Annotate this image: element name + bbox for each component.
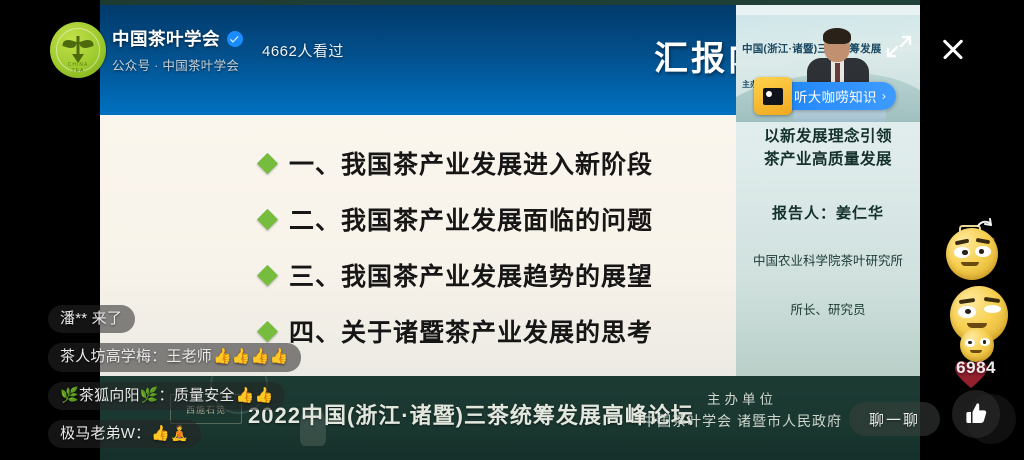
chat-message-text: 潘** 来了 <box>60 309 122 329</box>
livestream-viewer: 汇报内容 一、我国茶产业发展进入新阶段 二、我国茶产业发展面临的问题 三、我国茶… <box>0 0 1024 460</box>
cover-title-line1: 以新发展理念引领 <box>736 125 920 148</box>
channel-avatar-tea-logo-icon[interactable]: CHINA TEA <box>50 22 106 78</box>
channel-name: 中国茶叶学会 <box>112 26 220 51</box>
list-item: 🌿茶狐向阳🌿：质量安全 👍👍 <box>48 382 285 410</box>
organizer-names: 中国茶叶学会 诸暨市人民政府 <box>642 411 842 433</box>
diamond-bullet-icon <box>257 208 278 229</box>
thumbs-up-icon[interactable] <box>952 390 1000 438</box>
close-icon[interactable] <box>938 34 968 64</box>
chat-message-text: 🌿茶狐向阳🌿：质量安全 <box>60 386 235 406</box>
small-face-emoji <box>960 328 994 362</box>
cover-presenter: 报告人：姜仁华 <box>736 202 920 223</box>
chat-message-emojis: 👍👍 <box>236 386 274 406</box>
list-item: 茶人坊高学梅：王老师 👍👍👍👍 <box>48 343 301 371</box>
chat-message-emojis: 👍🧘 <box>151 424 189 444</box>
smiling-face-emoji <box>946 228 998 280</box>
diamond-bullet-icon <box>257 152 278 173</box>
channel-subtitle: 公众号 · 中国茶叶学会 <box>112 55 243 74</box>
list-item: 潘** 来了 <box>48 305 135 333</box>
cover-title-line2: 茶产业高质量发展 <box>736 148 920 171</box>
thumbs-up-glyph <box>963 401 989 427</box>
chat-message-emojis: 👍👍👍👍 <box>213 347 289 367</box>
cover-affiliation-line2: 所长、研究员 <box>736 300 920 321</box>
avatar-base-text: CHINA TEA <box>62 62 94 68</box>
channel-info-block[interactable]: 中国茶叶学会 公众号 · 中国茶叶学会 <box>112 26 243 74</box>
chat-message-text: 极马老弟W： <box>60 424 150 444</box>
view-count-label: 4662人看过 <box>262 40 344 61</box>
diamond-bullet-icon <box>257 264 278 285</box>
list-item: 极马老弟W： 👍🧘 <box>48 420 201 448</box>
list-item-label: 一、我国茶产业发展进入新阶段 <box>289 145 653 181</box>
like-count-label: 6984 <box>956 358 996 378</box>
presentation-cover-text: 以新发展理念引领 茶产业高质量发展 报告人：姜仁华 中国农业科学院茶叶研究所 所… <box>736 125 920 321</box>
stream-header: CHINA TEA 中国茶叶学会 公众号 · 中国茶叶学会 4662人看过 <box>0 0 1024 96</box>
organizer-lead-label: 主办单位 <box>642 390 842 411</box>
list-item-label: 二、我国茶产业发展面临的问题 <box>289 201 653 237</box>
chat-message-list: 潘** 来了 茶人坊高学梅：王老师 👍👍👍👍 🌿茶狐向阳🌿：质量安全 👍👍 极马… <box>48 295 378 448</box>
list-item-label: 三、我国茶产业发展趋势的展望 <box>289 257 653 293</box>
verified-badge-icon <box>227 31 243 47</box>
chat-message-text: 茶人坊高学梅：王老师 <box>60 347 212 367</box>
organizer-info: 主办单位 中国茶叶学会 诸暨市人民政府 <box>642 390 842 433</box>
cover-affiliation-line1: 中国农业科学院茶叶研究所 <box>736 251 920 272</box>
chat-with-button[interactable]: 聊一聊 <box>849 402 940 436</box>
